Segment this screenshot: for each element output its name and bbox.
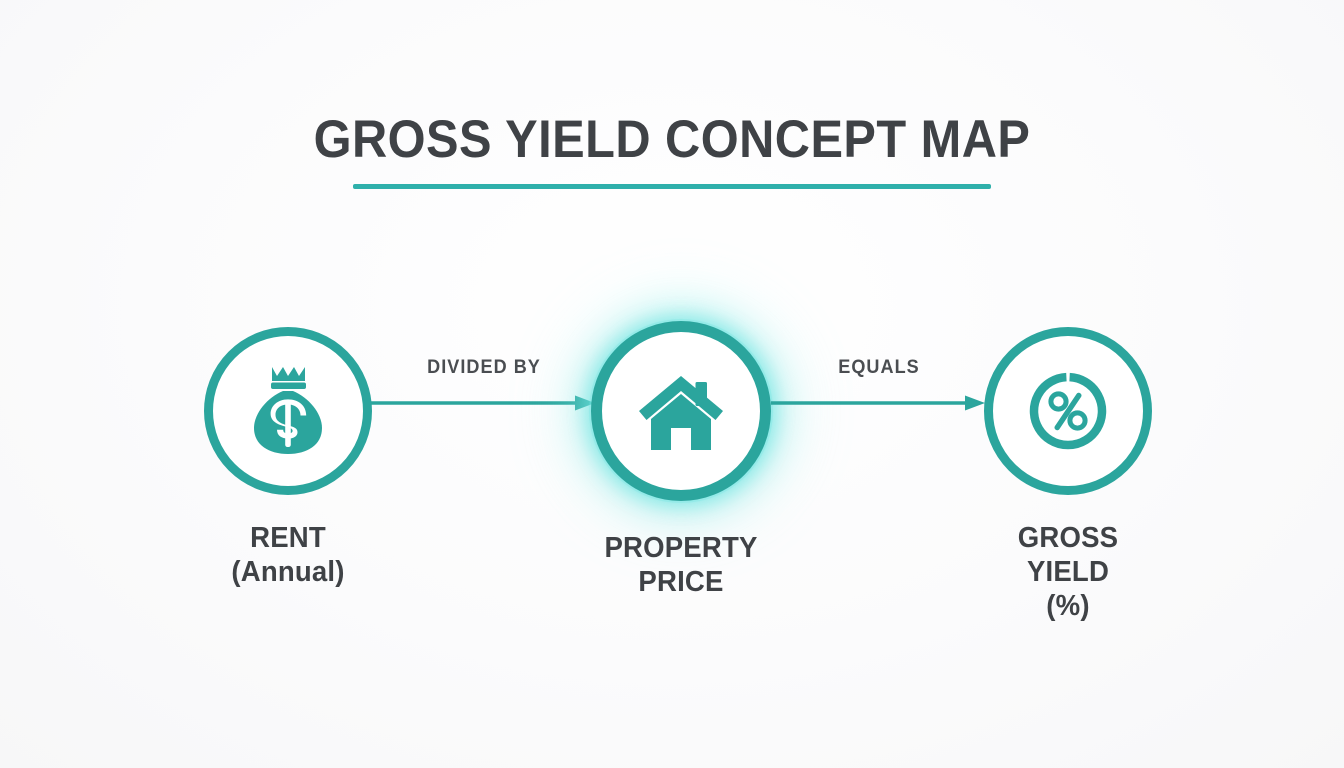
node-rent-circle[interactable] — [204, 327, 372, 495]
node-rent-label: RENT (Annual) — [208, 521, 368, 589]
edge-price-to-yield: EQUALS — [771, 391, 987, 431]
arrow-right-icon — [371, 391, 597, 415]
house-icon — [635, 370, 727, 452]
node-property-price[interactable]: PROPERTY PRICE — [591, 321, 771, 599]
percent-donut-icon — [1026, 369, 1110, 453]
arrow-right-icon — [771, 391, 987, 415]
edge-price-to-yield-label: EQUALS — [776, 357, 981, 379]
page-title-block: GROSS YIELD CONCEPT MAP — [0, 112, 1344, 189]
node-property-price-label: PROPERTY PRICE — [596, 531, 767, 599]
page-title: GROSS YIELD CONCEPT MAP — [54, 112, 1290, 168]
money-bag-icon — [250, 365, 326, 457]
edge-rent-to-price-label: DIVIDED BY — [377, 357, 592, 379]
node-property-price-circle[interactable] — [591, 321, 771, 501]
concept-map-canvas: GROSS YIELD CONCEPT MAP R — [0, 0, 1344, 768]
node-gross-yield-circle[interactable] — [984, 327, 1152, 495]
node-gross-yield-label: GROSS YIELD (%) — [988, 521, 1148, 623]
node-gross-yield[interactable]: GROSS YIELD (%) — [984, 327, 1152, 623]
edge-rent-to-price: DIVIDED BY — [371, 391, 597, 431]
title-underline — [353, 184, 991, 189]
node-rent[interactable]: RENT (Annual) — [204, 327, 372, 589]
